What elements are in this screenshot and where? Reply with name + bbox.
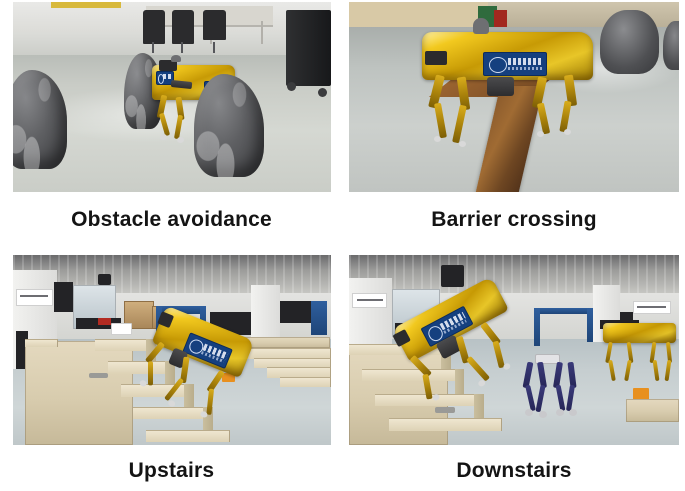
robot-foot — [160, 134, 167, 140]
panel-caption-barrier-crossing: Barrier crossing — [431, 208, 596, 232]
blue-robot-leg — [556, 385, 565, 411]
white-bucket — [111, 323, 132, 335]
background-platform — [626, 399, 679, 422]
blue-robot-foot — [539, 411, 547, 418]
figure-panel-grid: Obstacle avoidance — [0, 0, 685, 491]
wood-panel-wall — [349, 2, 488, 27]
dark-equipment — [280, 301, 312, 324]
obstacle-rock-right — [194, 74, 264, 177]
robot-leg — [173, 115, 182, 140]
robot-leg — [466, 356, 489, 381]
blue-robot-foot — [569, 409, 577, 416]
blue-quadruped-robot — [521, 354, 587, 419]
robot-leg — [207, 388, 214, 414]
office-chair-stem — [152, 42, 154, 53]
emblem-text-line — [508, 58, 543, 65]
figure-panel-obstacle-avoidance: Obstacle avoidance — [0, 0, 343, 245]
background-stair-landing — [241, 337, 330, 348]
dark-panel — [54, 282, 73, 312]
emblem-text-line — [163, 74, 172, 78]
robot-leg — [664, 360, 670, 381]
wall-sign — [16, 289, 53, 306]
robot-leg — [452, 105, 467, 143]
ceiling-mounted-rig — [441, 265, 464, 288]
robot-leg — [159, 113, 170, 136]
quadruped-robot — [422, 32, 594, 150]
robot-underbody-module — [487, 77, 514, 96]
robot-foot — [432, 393, 441, 402]
figure-panel-upstairs: Upstairs — [0, 245, 343, 491]
sign-text-line — [357, 299, 383, 301]
robot-leg — [165, 377, 184, 400]
robot-foot — [459, 141, 466, 147]
office-chair-stem — [181, 42, 183, 53]
robot-body — [603, 323, 676, 342]
robot-foot — [139, 379, 148, 387]
stair-step-3-tread — [389, 418, 502, 430]
robot-leg — [652, 360, 658, 381]
blue-gantry-post — [534, 308, 541, 346]
robot-foot — [177, 137, 184, 143]
blue-robot-leg — [525, 385, 535, 411]
office-chair — [172, 10, 194, 44]
white-pillar — [251, 285, 280, 338]
blue-frame — [311, 301, 327, 335]
wall-sign — [633, 301, 671, 314]
figure-panel-downstairs: Downstairs — [343, 245, 685, 491]
cabinet-caster — [318, 88, 327, 97]
floor-marking-tape — [51, 2, 121, 8]
photo-upstairs — [13, 255, 331, 445]
stair-step-5-tread — [146, 430, 230, 442]
ceiling-camera — [98, 274, 111, 285]
robot-leg — [492, 341, 504, 368]
blue-robot-foot — [525, 409, 533, 416]
blue-robot-leg — [537, 361, 547, 387]
obstacle-rock-left — [13, 70, 67, 169]
monitor — [620, 312, 633, 322]
figure-panel-barrier-crossing: Barrier crossing — [343, 0, 685, 245]
panel-caption-obstacle-avoidance: Obstacle avoidance — [71, 208, 272, 232]
stair-step-1-tread — [95, 339, 153, 351]
robot-leg — [625, 360, 632, 381]
grey-rock-obstacle — [663, 21, 680, 70]
robot-leg — [560, 100, 572, 131]
robot-head — [425, 51, 447, 65]
stair-handle — [89, 373, 108, 379]
wall-sign — [352, 293, 387, 308]
robot-leg — [609, 360, 616, 381]
blue-gantry-beam — [534, 308, 593, 314]
blue-robot-leg — [535, 385, 545, 413]
robot-leg — [148, 360, 153, 384]
rolling-cabinet — [286, 10, 331, 86]
sign-text-line — [20, 295, 48, 297]
robot-side-logo-plate — [483, 52, 547, 75]
panel-caption-downstairs: Downstairs — [456, 459, 571, 483]
robot-leg — [537, 103, 550, 134]
robot-leg — [434, 103, 447, 139]
emblem-subtext-line — [508, 67, 542, 70]
university-emblem-icon — [489, 57, 507, 73]
office-chair — [203, 10, 225, 40]
stair-step-2-riser — [474, 394, 484, 421]
photo-barrier-crossing — [349, 2, 679, 192]
grey-rock-obstacle — [600, 10, 659, 75]
ceiling-grid — [349, 255, 679, 293]
blue-robot-leg — [568, 361, 577, 387]
workbench-leg — [261, 21, 263, 44]
office-chair — [143, 10, 165, 44]
blue-robot-leg — [566, 385, 575, 411]
panel-caption-upstairs: Upstairs — [129, 459, 215, 483]
blue-gantry-post — [587, 308, 594, 342]
sign-text-line — [637, 306, 666, 308]
robot-foot — [564, 129, 571, 135]
robot-lidar-sensor — [171, 55, 181, 63]
cabinet-caster — [287, 82, 296, 91]
background-quadruped-robot — [603, 323, 676, 384]
red-equipment — [98, 318, 111, 326]
robot-lidar-sensor — [473, 18, 488, 33]
blue-robot-leg — [553, 361, 563, 387]
robot-foot — [434, 136, 441, 142]
background-stair-tread — [280, 377, 331, 388]
blue-robot-foot — [556, 409, 564, 416]
stair-top-edge — [25, 339, 58, 348]
robot-foot — [537, 131, 544, 137]
plywood-stair-body — [25, 341, 133, 446]
office-chair-stem — [213, 42, 215, 53]
photo-downstairs — [349, 255, 679, 445]
photo-obstacle-avoidance — [13, 2, 331, 192]
